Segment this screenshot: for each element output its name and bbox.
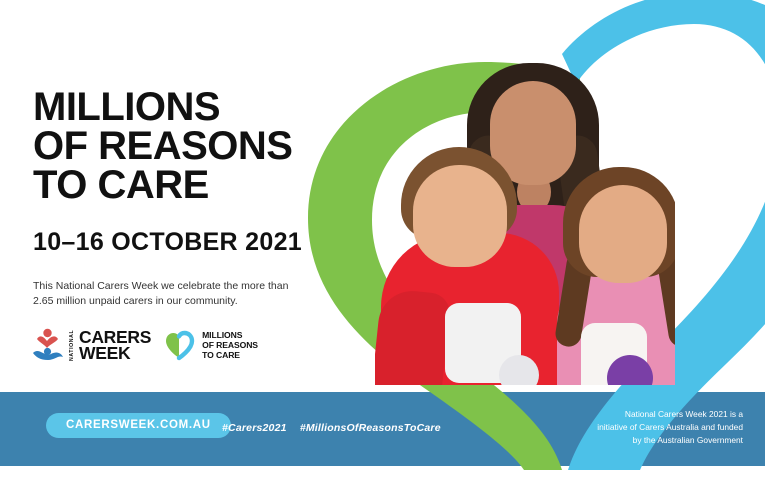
footer-bar: CARERSWEEK.COM.AU #Carers2021 #MillionsO…	[0, 392, 765, 466]
carer-figure-icon	[31, 327, 65, 363]
headline-line-1: MILLIONS	[33, 88, 333, 127]
carers-week-national-label: NATIONAL	[69, 327, 75, 363]
carers-week-logo[interactable]: NATIONAL CARERS WEEK	[31, 327, 151, 363]
attribution-line-2: initiative of Carers Australia and funde…	[533, 421, 743, 434]
logo-lockup: NATIONAL CARERS WEEK MILLIONS OF REASONS…	[31, 327, 258, 363]
attribution-line-1: National Carers Week 2021 is a	[533, 408, 743, 421]
hashtag-millionsofreasonstocare[interactable]: #MillionsOfReasonsToCare	[300, 422, 441, 434]
millions-line-2: OF REASONS	[202, 340, 258, 350]
attribution: National Carers Week 2021 is a initiativ…	[533, 408, 743, 446]
family-photo	[375, 55, 675, 385]
heart-icon	[163, 329, 195, 361]
hashtags: #Carers2021 #MillionsOfReasonsToCare	[222, 422, 451, 434]
website-button[interactable]: CARERSWEEK.COM.AU	[46, 413, 231, 438]
hashtag-carers2021[interactable]: #Carers2021	[222, 422, 287, 434]
campaign-blurb: This National Carers Week we celebrate t…	[33, 279, 295, 309]
headline-line-2: OF REASONS	[33, 127, 333, 166]
headline-line-3: TO CARE	[33, 166, 333, 205]
event-dates: 10–16 OCTOBER 2021	[33, 228, 302, 257]
page-title: MILLIONS OF REASONS TO CARE	[33, 88, 333, 204]
millions-of-reasons-logo[interactable]: MILLIONS OF REASONS TO CARE	[163, 329, 258, 361]
millions-line-3: TO CARE	[202, 350, 258, 360]
millions-line-1: MILLIONS	[202, 330, 258, 340]
carers-week-line-2: WEEK	[79, 345, 151, 361]
attribution-line-3: by the Australian Government	[533, 434, 743, 447]
carers-week-banner: MILLIONS OF REASONS TO CARE 10–16 OCTOBE…	[0, 0, 765, 496]
